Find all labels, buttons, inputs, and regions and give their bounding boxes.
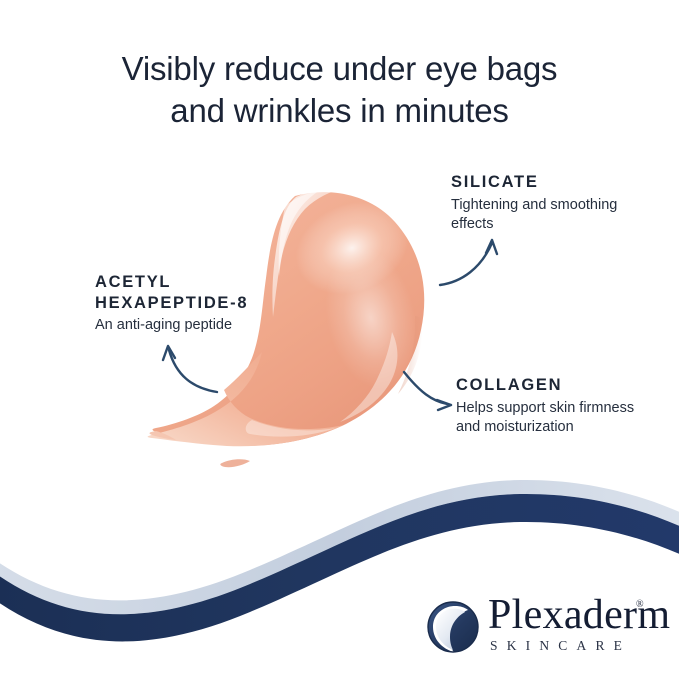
ad-canvas: Visibly reduce under eye bags and wrinkl… [0,0,679,679]
logo-tagline: SKINCARE [490,638,631,654]
crescent-circle-icon [424,598,482,656]
brand-wave [0,0,679,679]
logo-registered-mark: ® [636,599,644,610]
brand-logo: Plexaderm ® SKINCARE [424,596,664,658]
